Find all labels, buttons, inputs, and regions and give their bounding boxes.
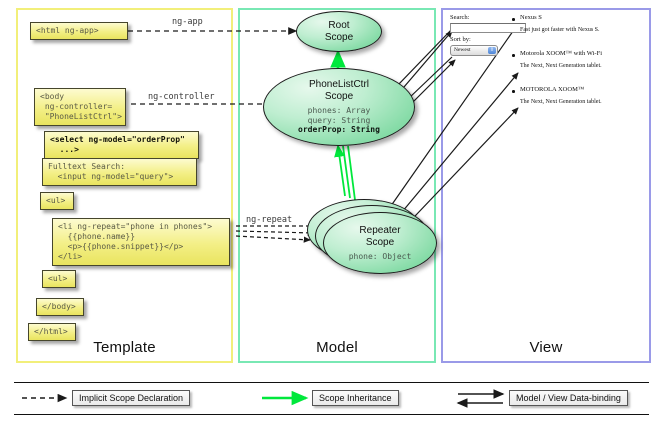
legend: Implicit Scope Declaration Scope Inherit… <box>14 382 649 416</box>
ul-close-box: <ul> <box>42 270 76 288</box>
phone-name[interactable]: MOTOROLA XOOM™ <box>520 86 584 93</box>
phonelistctrl-scope: PhoneListCtrlScope phones: Array query: … <box>263 68 415 146</box>
phone-snippet: The Next, Next Generation tablet. <box>520 63 602 69</box>
repeater-scope-props: phone: Object <box>349 252 412 262</box>
view-app-preview: Search: Sort by: Newest ⇳ Nexus S Fast j… <box>449 14 645 124</box>
phone-name[interactable]: Nexus S <box>520 14 542 21</box>
panel-model <box>238 8 436 363</box>
phone-name[interactable]: Motorola XOOM™ with Wi-Fi <box>520 50 602 57</box>
fulltext-search-box: Fulltext Search: <input ng-model="query"… <box>42 158 197 186</box>
phonelistctrl-scope-props: phones: Array query: String orderProp: S… <box>298 106 380 135</box>
diagram-canvas: <html ng-app> <body ng-controller= "Phon… <box>0 0 661 425</box>
select-orderprop-box: <select ng-model="orderProp" ...> <box>44 131 199 159</box>
body-close-box: </body> <box>36 298 84 316</box>
body-controller-box: <body ng-controller= "PhoneListCtrl"> <box>34 88 126 126</box>
li-ng-repeat-box: <li ng-repeat="phone in phones"> {{phone… <box>52 218 230 266</box>
phone-snippet: Fast just got faster with Nexus S. <box>520 27 600 33</box>
sort-by-select[interactable]: Newest ⇳ <box>450 45 498 56</box>
ng-app-label: ng-app <box>172 17 203 27</box>
ul-open-box: <ul> <box>40 192 74 210</box>
repeater-scope-title: RepeaterScope <box>359 225 400 249</box>
sort-by-label: Sort by: <box>450 36 471 43</box>
phone-snippet: The Next, Next Generation tablet. <box>520 99 602 105</box>
legend-scope-inheritance: Scope Inheritance <box>312 390 399 406</box>
scope-prop-plain: phones: Array query: String <box>308 106 371 125</box>
panel-label-model: Model <box>238 339 436 356</box>
chevron-updown-icon: ⇳ <box>488 47 496 54</box>
panel-label-template: Template <box>16 339 233 356</box>
repeater-scope: RepeaterScope phone: Object <box>323 212 437 274</box>
legend-model-view-data-binding: Model / View Data-binding <box>509 390 628 406</box>
phonelistctrl-scope-title: PhoneListCtrlScope <box>309 79 369 103</box>
root-scope: RootScope <box>296 11 382 52</box>
list-bullet <box>512 90 515 93</box>
search-input[interactable] <box>450 23 526 33</box>
legend-implicit-scope-declaration: Implicit Scope Declaration <box>72 390 190 406</box>
legend-rule-bottom <box>14 414 649 415</box>
search-label: Search: <box>450 14 470 21</box>
root-scope-title: RootScope <box>325 20 353 44</box>
list-bullet <box>512 54 515 57</box>
panel-label-view: View <box>441 339 651 356</box>
list-bullet <box>512 18 515 21</box>
scope-prop-bold: orderProp: String <box>298 125 380 134</box>
legend-rule-top <box>14 382 649 383</box>
html-tag-box: <html ng-app> <box>30 22 128 40</box>
ng-controller-label: ng-controller <box>148 92 215 102</box>
sort-by-selected-value: Newest <box>454 47 471 53</box>
ng-repeat-label: ng-repeat <box>246 215 292 225</box>
